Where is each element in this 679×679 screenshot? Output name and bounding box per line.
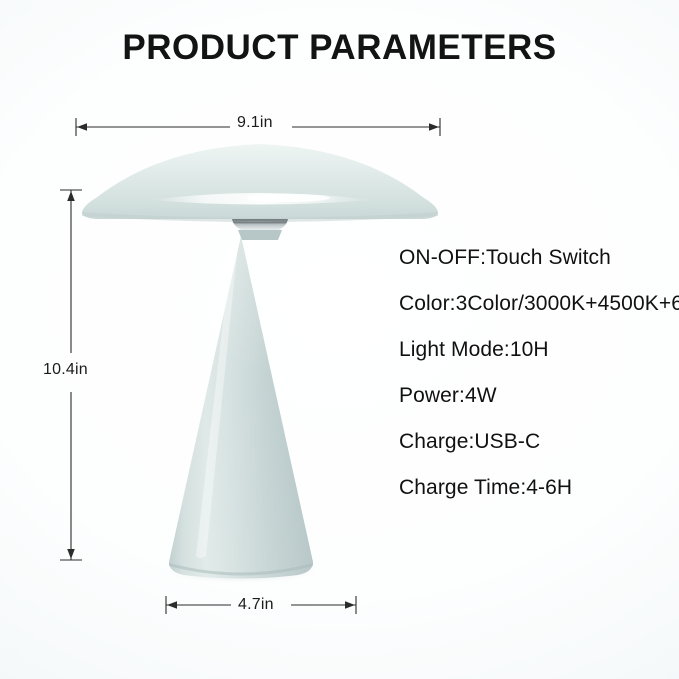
product-parameters-page: PRODUCT PARAMETERS [0, 0, 679, 679]
spec-power: Power:4W [399, 383, 671, 409]
width-arrow-right [429, 123, 439, 131]
height-arrow-top [67, 191, 75, 201]
height-dimension-label: 10.4in [43, 361, 88, 379]
spec-charge: Charge:USB-C [399, 429, 671, 455]
spec-on-off: ON-OFF:Touch Switch [399, 245, 671, 271]
spec-color: Color:3Color/3000K+4500K+6000K [399, 291, 671, 317]
width-arrow-left [77, 123, 87, 131]
base-arrow-left [167, 601, 177, 609]
width-dimension-label: 9.1in [237, 114, 273, 132]
specification-list: ON-OFF:Touch Switch Color:3Color/3000K+4… [399, 245, 671, 501]
base-arrow-right [345, 601, 355, 609]
base-width-dimension-label: 4.7in [238, 596, 274, 614]
spec-light-mode: Light Mode:10H [399, 337, 671, 363]
height-arrow-bottom [67, 549, 75, 559]
spec-charge-time: Charge Time:4-6H [399, 475, 671, 501]
